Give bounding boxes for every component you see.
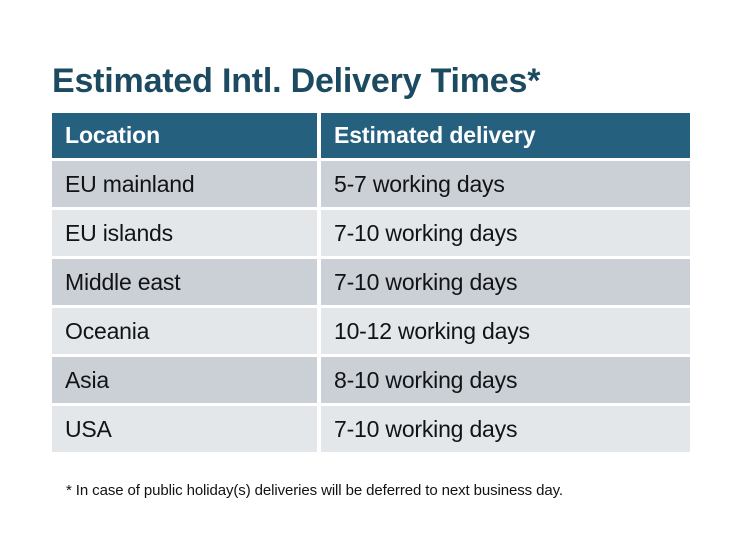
table-row: EU islands 7-10 working days xyxy=(52,210,690,256)
table-row: Asia 8-10 working days xyxy=(52,357,690,403)
table-row: Middle east 7-10 working days xyxy=(52,259,690,305)
table-header-row: Location Estimated delivery xyxy=(52,113,690,158)
footnote-public-holiday: * In case of public holiday(s) deliverie… xyxy=(66,481,706,501)
delivery-times-page: Estimated Intl. Delivery Times* Location… xyxy=(0,0,745,536)
estimated-delivery-times-table: Location Estimated delivery EU mainland … xyxy=(52,113,690,452)
column-header-estimated-delivery: Estimated delivery xyxy=(321,113,690,158)
cell-estimated-delivery: 7-10 working days xyxy=(321,259,690,305)
cell-estimated-delivery: 7-10 working days xyxy=(321,210,690,256)
cell-location: EU islands xyxy=(52,210,317,256)
cell-location: EU mainland xyxy=(52,161,317,207)
page-title: Estimated Intl. Delivery Times* xyxy=(52,59,692,103)
cell-location: Oceania xyxy=(52,308,317,354)
cell-location: Middle east xyxy=(52,259,317,305)
cell-estimated-delivery: 5-7 working days xyxy=(321,161,690,207)
table-row: Oceania 10-12 working days xyxy=(52,308,690,354)
column-header-location: Location xyxy=(52,113,317,158)
cell-estimated-delivery: 10-12 working days xyxy=(321,308,690,354)
cell-estimated-delivery: 7-10 working days xyxy=(321,406,690,452)
cell-location: USA xyxy=(52,406,317,452)
table-row: USA 7-10 working days xyxy=(52,406,690,452)
table-row: EU mainland 5-7 working days xyxy=(52,161,690,207)
cell-location: Asia xyxy=(52,357,317,403)
cell-estimated-delivery: 8-10 working days xyxy=(321,357,690,403)
